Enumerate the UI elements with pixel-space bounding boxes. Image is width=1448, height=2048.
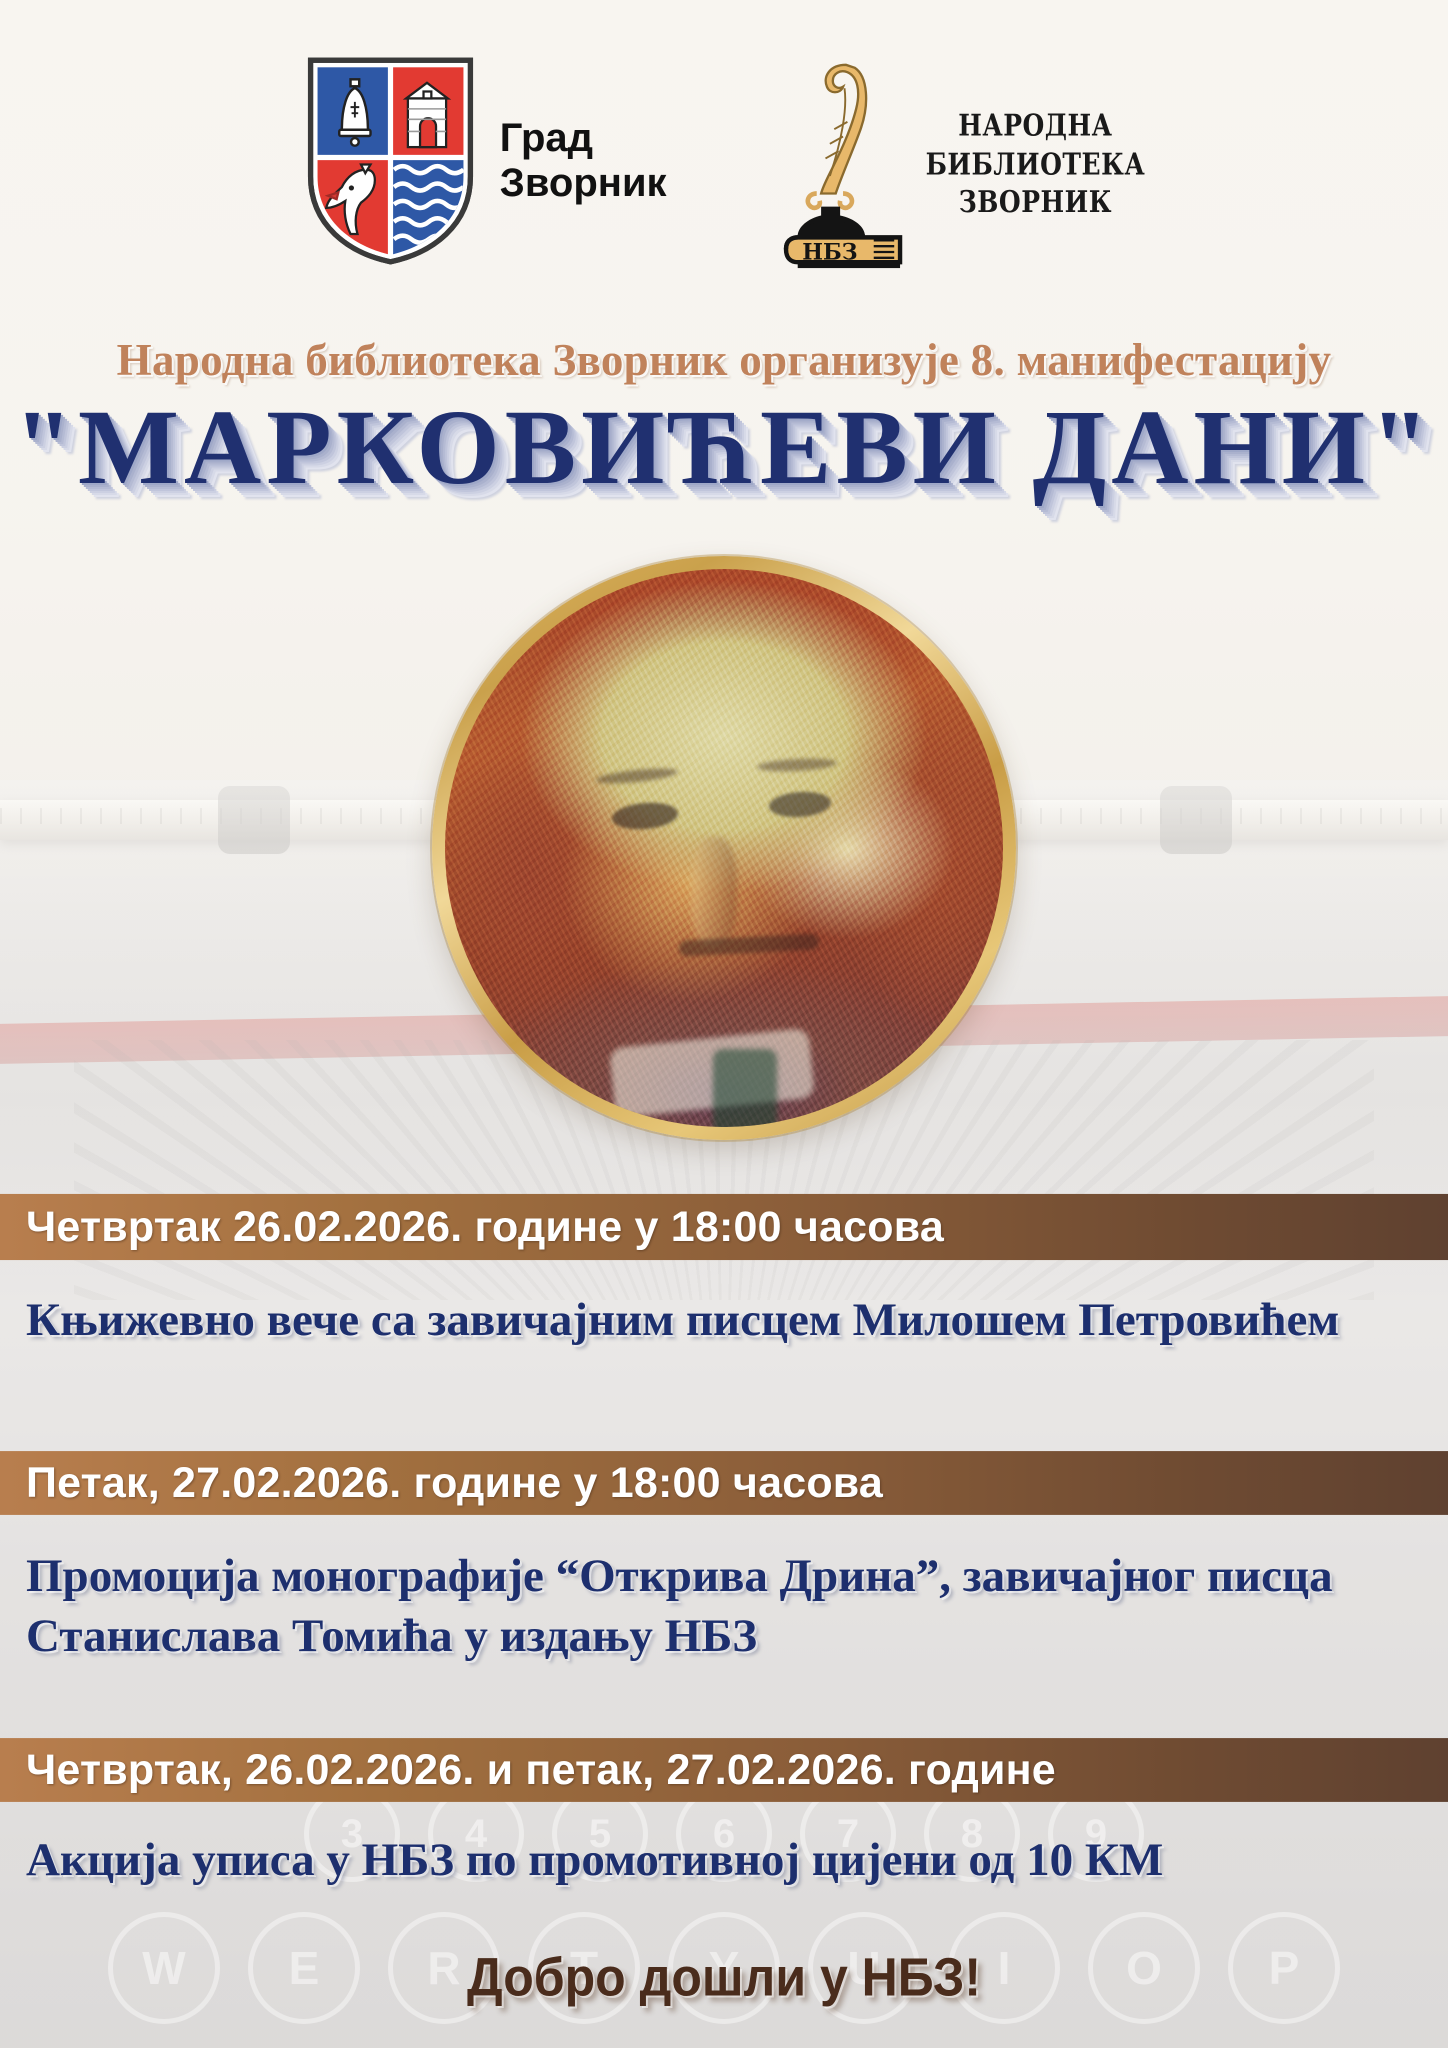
event-date-bar-3: Четвртак, 26.02.2026. и петак, 27.02.202… [0,1738,1448,1802]
library-logo-line3: ЗВОРНИК [926,184,1146,222]
portrait-feature-eye-left [611,801,679,833]
author-portrait-image [445,569,1003,1127]
poster-subtitle: Народна библиотека Зворник организује 8.… [0,334,1448,386]
logo-strip: Град Зворник [0,55,1448,271]
event-date-label-3: Четвртак, 26.02.2026. и петак, 27.02.202… [26,1749,1056,1792]
portrait-feature-brow-right [757,757,838,773]
event-description-3: Акција уписа у НБЗ по промотивној цијени… [26,1830,1398,1890]
welcome-message: Добро дошли у НБЗ! [0,1946,1448,2009]
portrait-feature-brow-left [595,766,678,787]
portrait-gold-frame [432,556,1016,1140]
portrait-feature-eye-right [768,790,832,819]
zvornik-coat-of-arms-icon [303,55,478,267]
event-date-bar-2: Петак, 27.02.2026. године у 18:00 часова [0,1451,1448,1515]
city-logo-line1: Град [500,116,667,161]
event-date-bar-1: Четвртак 26.02.2026. године у 18:00 часо… [0,1194,1448,1260]
event-description-2: Промоција монографије “Открива Дрина”, з… [26,1546,1398,1666]
library-logo: НБЗ НАРОДНА БИБЛИОТЕКА ЗВОРНИК [777,59,1146,271]
quill-inkwell-book-icon: НБЗ [777,59,912,271]
event-date-label-1: Четвртак 26.02.2026. године у 18:00 часо… [26,1206,944,1249]
portrait-feature-tie [713,1049,777,1127]
poster-content: Град Зворник [0,0,1448,2048]
city-logo-text: Град Зворник [500,116,667,206]
portrait-feature-nose [691,837,737,947]
city-logo-line2: Зворник [500,161,667,206]
city-logo: Град Зворник [303,55,667,267]
poster-title: "МАРКОВИЋЕВИ ДАНИ" [0,392,1448,504]
library-logo-text: НАРОДНА БИБЛИОТЕКА ЗВОРНИК [926,107,1146,222]
library-book-abbr: НБЗ [802,239,857,265]
library-logo-line2: БИБЛИОТЕКА [926,146,1146,184]
event-date-label-2: Петак, 27.02.2026. године у 18:00 часова [26,1462,883,1505]
library-logo-line1: НАРОДНА [926,107,1146,145]
event-description-1: Књижевно вече са завичајним писцем Милош… [26,1290,1398,1350]
poster-root: 3 4 5 6 7 8 9 W E R T Y U I O P [0,0,1448,2048]
